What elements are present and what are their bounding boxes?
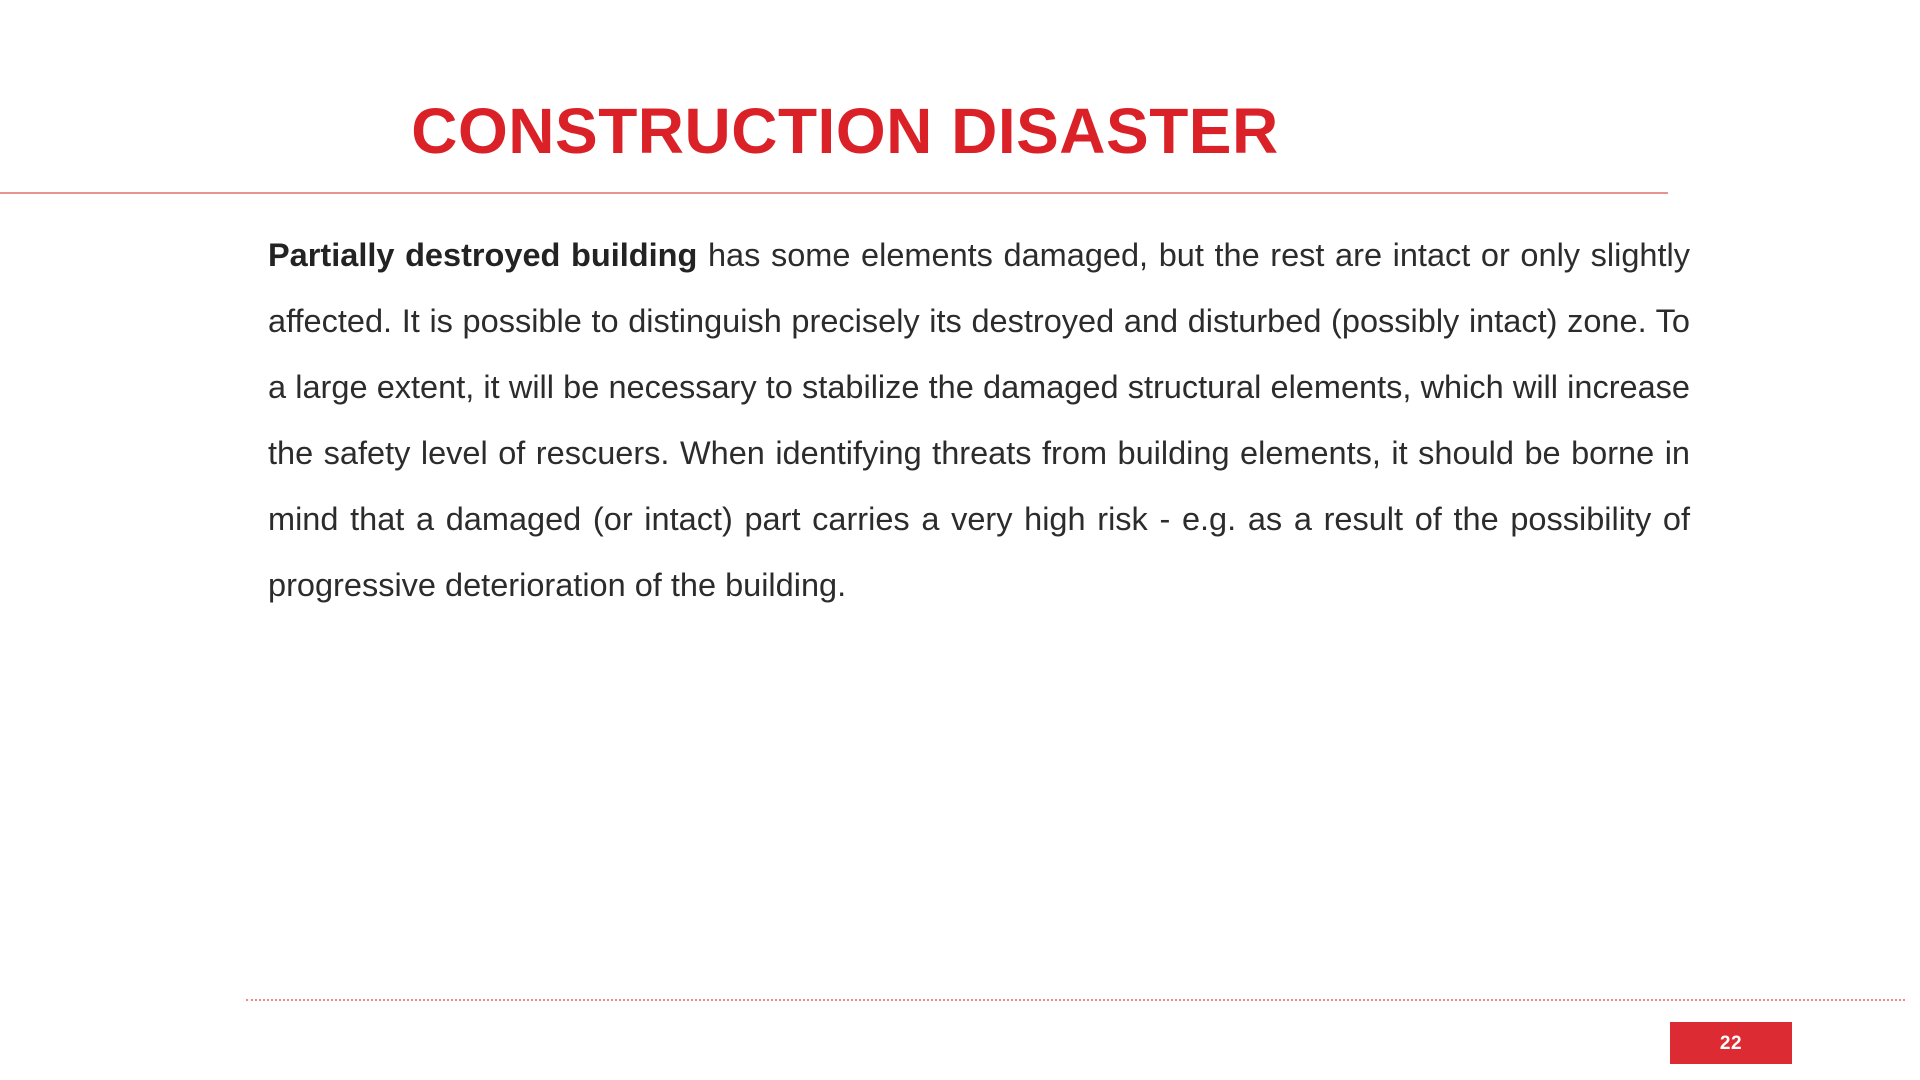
body-lead-term: Partially destroyed building — [268, 237, 697, 273]
page-number-badge: 22 — [1670, 1022, 1792, 1064]
page-title: CONSTRUCTION DISASTER — [0, 98, 1690, 165]
body-remainder-text: has some elements damaged, but the rest … — [268, 237, 1690, 603]
footer-divider-line — [246, 999, 1905, 1001]
slide-canvas: CONSTRUCTION DISASTER Partially destroye… — [0, 0, 1920, 1080]
body-paragraph: Partially destroyed building has some el… — [268, 222, 1690, 618]
title-divider-line — [0, 192, 1668, 194]
page-number-label: 22 — [1720, 1034, 1742, 1053]
